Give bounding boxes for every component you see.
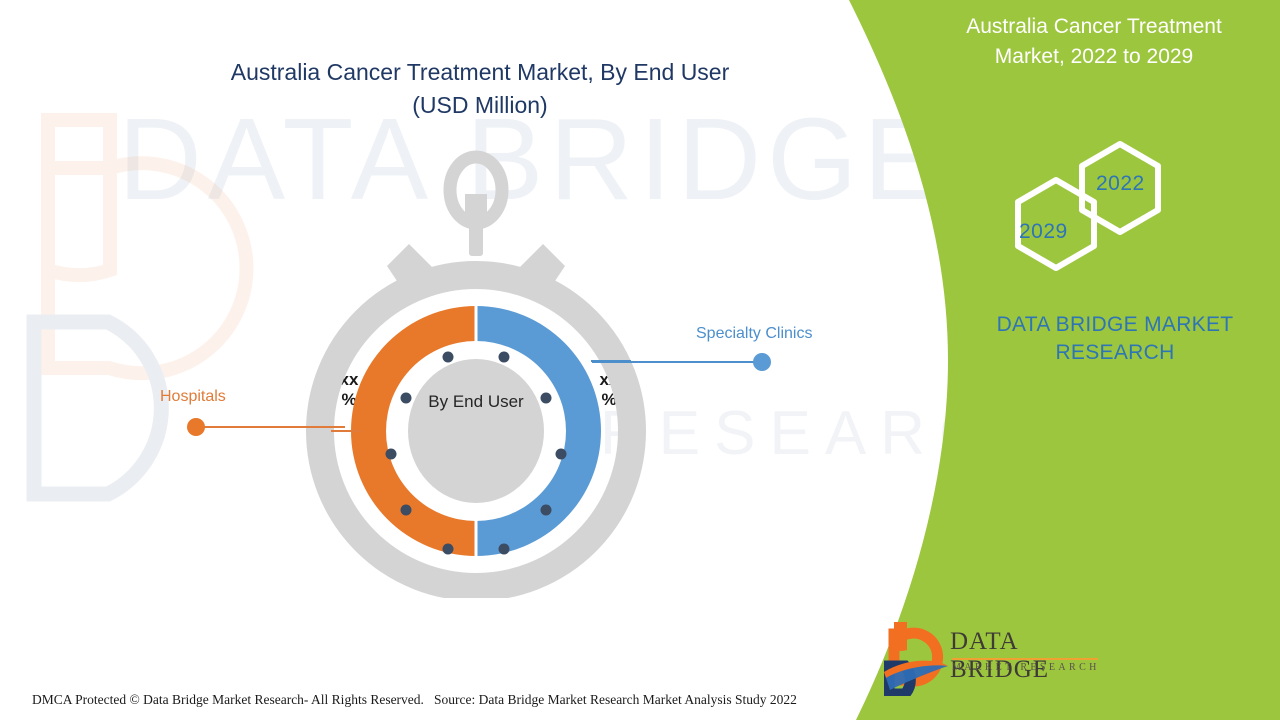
page-title-line2: (USD Million) xyxy=(160,89,800,122)
callout-dot-specialty-clinics xyxy=(753,353,771,371)
brand-name-line1: DATA BRIDGE MARKET xyxy=(965,311,1265,339)
callout-label-hospitals: Hospitals xyxy=(160,388,226,406)
brand-name-line2: RESEARCH xyxy=(965,339,1265,367)
dial-hub xyxy=(408,359,544,503)
watermark-research-text: RESEARCH xyxy=(600,398,1057,469)
logo-divider xyxy=(952,658,1098,660)
logo-wordmark: DATA BRIDGE xyxy=(950,628,1114,684)
hexagon-badges xyxy=(980,132,1200,284)
panel-title-line2: Market, 2022 to 2029 xyxy=(918,42,1270,72)
slide-canvas: DATA BRIDGE RESEARCH Australia Cancer Tr… xyxy=(0,0,1280,720)
page-title: Australia Cancer Treatment Market, By En… xyxy=(160,56,800,122)
footer-source: Source: Data Bridge Market Research Mark… xyxy=(434,692,797,708)
donut-chart: By End User xyxy=(291,146,661,598)
panel-title-line1: Australia Cancer Treatment xyxy=(918,12,1270,42)
page-title-line1: Australia Cancer Treatment Market, By En… xyxy=(160,56,800,89)
callout-dot-hospitals xyxy=(187,418,205,436)
logo-tagline: MARKET RESEARCH xyxy=(952,662,1100,673)
hexagon-label-2022: 2022 xyxy=(1096,172,1145,196)
footer-copyright: DMCA Protected © Data Bridge Market Rese… xyxy=(32,692,424,708)
panel-title: Australia Cancer Treatment Market, 2022 … xyxy=(918,12,1270,72)
callout-label-specialty-clinics: Specialty Clinics xyxy=(696,325,812,343)
stopwatch-donut-graphic xyxy=(291,146,661,598)
footer: DMCA Protected © Data Bridge Market Rese… xyxy=(0,680,1280,720)
brand-name: DATA BRIDGE MARKET RESEARCH xyxy=(965,311,1265,367)
stopwatch-crown-icon xyxy=(450,157,502,256)
hexagon-label-2029: 2029 xyxy=(1019,220,1068,244)
